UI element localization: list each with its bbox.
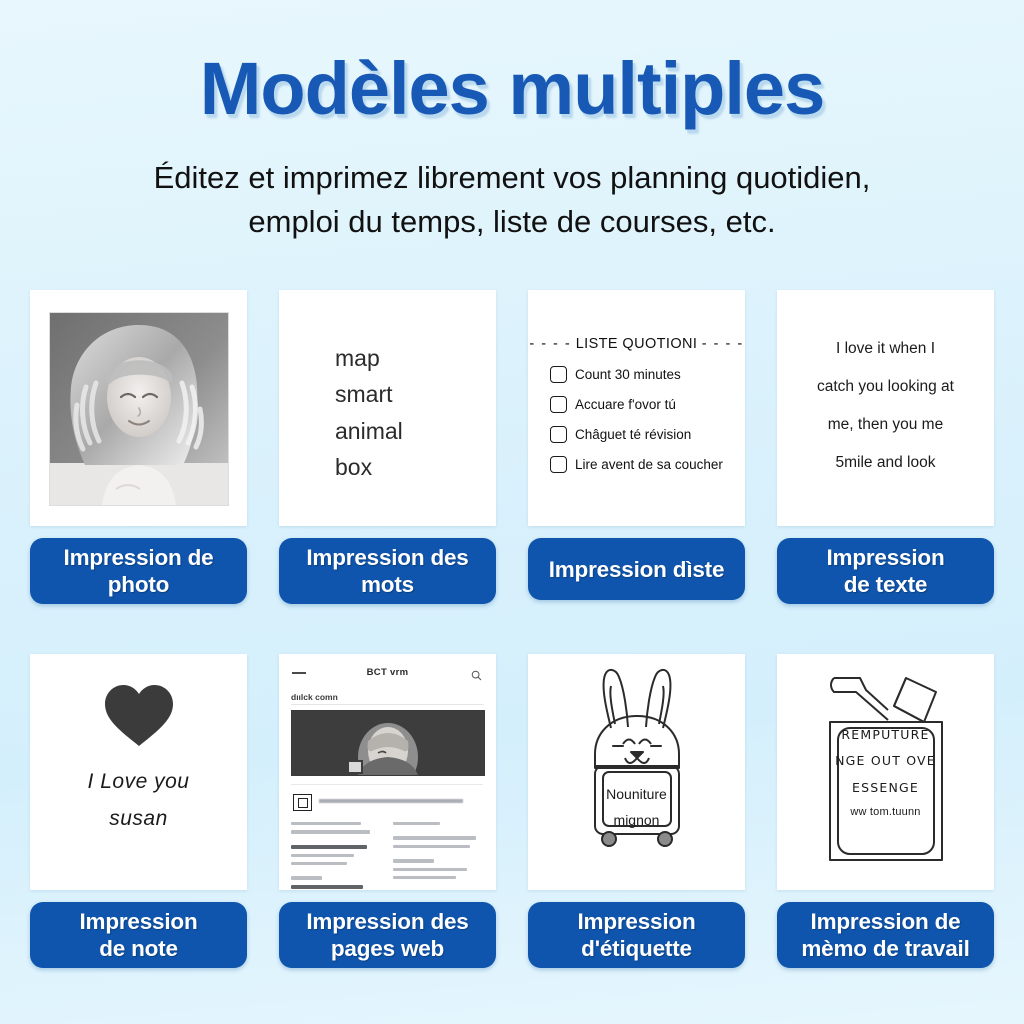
word-item: map — [335, 342, 403, 375]
quote-text: I love it when I catch you looking at me… — [787, 330, 984, 482]
checklist-item[interactable]: Accuare f'ovor tú — [550, 396, 736, 413]
heart-shape — [102, 682, 176, 748]
label-line-2: photo — [64, 571, 214, 598]
checklist: Count 30 minutes Accuare f'ovor tú Châgu… — [550, 366, 736, 486]
label-line-1: Impression de — [64, 544, 214, 571]
checkbox-icon[interactable] — [550, 366, 567, 383]
note-text: I Love you susan — [30, 764, 247, 838]
memo-text: REMPUTURE NGE OUT OVE ESSENGE ww tom.tuu… — [777, 722, 994, 824]
label-line-2: d'étiquette — [577, 935, 695, 962]
webpage-column-right — [393, 822, 483, 890]
checklist-item[interactable]: Lire avent de sa coucher — [550, 456, 736, 473]
word-item: animal — [335, 415, 403, 448]
template-cell-webpage[interactable]: BCT vrm dıılck comn — [279, 654, 496, 968]
bunny-shape — [573, 662, 701, 880]
webpage-title: BCT vrm — [279, 667, 496, 678]
checklist-item-label: Count 30 minutes — [575, 367, 681, 382]
page-subtitle-line-2: emploi du temps, liste de courses, etc. — [42, 200, 982, 244]
divider — [291, 784, 483, 785]
checklist-item-label: Lire avent de sa coucher — [575, 457, 723, 472]
checklist-item[interactable]: Count 30 minutes — [550, 366, 736, 383]
preview-card-note[interactable]: I Love you susan — [30, 654, 247, 890]
template-cell-memo[interactable]: REMPUTURE NGE OUT OVE ESSENGE ww tom.tuu… — [777, 654, 994, 968]
etiquette-line-1: Nouniture — [528, 782, 745, 808]
etiquette-text: Nouniture mignon — [528, 782, 745, 834]
note-line-1: I Love you — [30, 764, 247, 801]
preview-card-checklist[interactable]: - - - - LISTE QUOTIONI - - - - Count 30 … — [528, 290, 745, 526]
promo-page: Modèles multiples Éditez et imprimez lib… — [0, 0, 1024, 1024]
bunny-luggage-icon — [573, 662, 701, 885]
label-line-1: Impression des — [306, 908, 468, 935]
preview-card-words[interactable]: map smart animal box — [279, 290, 496, 526]
webpage-subtitle: dıılck comn — [291, 692, 338, 702]
quote-line: I love it when I — [787, 330, 984, 368]
label-line-1: Impression — [79, 908, 197, 935]
preview-card-memo[interactable]: REMPUTURE NGE OUT OVE ESSENGE ww tom.tuu… — [777, 654, 994, 890]
template-row-1: Impression de photo map smart animal box — [30, 290, 996, 604]
label-impression-de-texte[interactable]: Impression de texte — [777, 538, 994, 604]
webpage-hero-image — [291, 710, 485, 776]
preview-card-photo[interactable] — [30, 290, 247, 526]
word-item: smart — [335, 378, 403, 411]
word-item: box — [335, 451, 403, 484]
memo-line-1: REMPUTURE — [777, 722, 994, 748]
label-impression-des-pages-web[interactable]: Impression des pages web — [279, 902, 496, 968]
divider — [291, 704, 484, 705]
template-cell-etiquette[interactable]: Nouniture mignon Impression d'étiquette — [528, 654, 745, 968]
checklist-title-row: - - - - LISTE QUOTIONI - - - - — [528, 336, 745, 352]
webpage-screenshot: BCT vrm dıılck comn — [279, 654, 496, 890]
memo-line-3: ESSENGE — [777, 775, 994, 801]
label-impression-de-photo[interactable]: Impression de photo — [30, 538, 247, 604]
label-line-1: Impression dìste — [549, 556, 725, 583]
label-impression-de-note[interactable]: Impression de note — [30, 902, 247, 968]
label-line-2: de note — [79, 935, 197, 962]
preview-card-webpage[interactable]: BCT vrm dıılck comn — [279, 654, 496, 890]
media-icon — [293, 794, 312, 811]
label-line-1: Impression des — [306, 544, 468, 571]
preview-card-etiquette[interactable]: Nouniture mignon — [528, 654, 745, 890]
heart-icon — [102, 682, 176, 753]
label-impression-de-memo-de-travail[interactable]: Impression de mèmo de travail — [777, 902, 994, 968]
template-cell-note[interactable]: I Love you susan Impression de note — [30, 654, 247, 968]
checklist-item-label: Châguet té révision — [575, 427, 691, 442]
label-impression-detiquette[interactable]: Impression d'étiquette — [528, 902, 745, 968]
checklist-title: LISTE QUOTIONI — [576, 336, 698, 352]
label-line-2: mèmo de travail — [801, 935, 969, 962]
label-line-1: Impression — [577, 908, 695, 935]
label-line-2: de texte — [826, 571, 944, 598]
etiquette-line-2: mignon — [528, 808, 745, 834]
template-cell-text[interactable]: I love it when I catch you looking at me… — [777, 290, 994, 604]
label-line-2: pages web — [306, 935, 468, 962]
quote-line: catch you looking at — [787, 368, 984, 406]
label-impression-des-mots[interactable]: Impression des mots — [279, 538, 496, 604]
quote-line: 5mile and look — [787, 444, 984, 482]
page-subtitle-line-1: Éditez et imprimez librement vos plannin… — [42, 156, 982, 200]
checkbox-icon[interactable] — [550, 456, 567, 473]
quote-line: me, then you me — [787, 406, 984, 444]
webpage-column-left — [291, 822, 381, 890]
template-cell-photo[interactable]: Impression de photo — [30, 290, 247, 604]
checkbox-icon[interactable] — [550, 426, 567, 443]
template-row-2: I Love you susan Impression de note — [30, 654, 996, 968]
page-title: Modèles multiples — [0, 46, 1024, 131]
dash-left: - - - - — [529, 336, 571, 352]
portrait-illustration — [50, 313, 228, 505]
search-glyph — [471, 670, 482, 681]
label-line-2: mots — [306, 571, 468, 598]
word-list: map smart animal box — [335, 342, 403, 487]
template-cell-checklist[interactable]: - - - - LISTE QUOTIONI - - - - Count 30 … — [528, 290, 745, 604]
hero-illustration — [292, 711, 484, 775]
note-line-2: susan — [30, 801, 247, 838]
label-line-1: Impression de — [801, 908, 969, 935]
webpage-header: BCT vrm — [279, 664, 496, 690]
label-line-1: Impression — [826, 544, 944, 571]
preview-card-text[interactable]: I love it when I catch you looking at me… — [777, 290, 994, 526]
webpage-caption-placeholder — [319, 799, 469, 803]
webpage-body-columns — [291, 822, 484, 890]
checklist-item-label: Accuare f'ovor tú — [575, 397, 676, 412]
memo-url: ww tom.tuunn — [777, 801, 994, 824]
checkbox-icon[interactable] — [550, 396, 567, 413]
label-impression-diste[interactable]: Impression dìste — [528, 538, 745, 600]
template-cell-words[interactable]: map smart animal box Impression des mots — [279, 290, 496, 604]
photo-thumbnail — [49, 312, 229, 506]
memo-line-2: NGE OUT OVE — [777, 748, 994, 774]
page-subtitle: Éditez et imprimez librement vos plannin… — [42, 156, 982, 244]
template-grid: Impression de photo map smart animal box — [30, 290, 996, 968]
search-icon[interactable] — [471, 668, 482, 686]
dash-right: - - - - — [702, 336, 744, 352]
checklist-item[interactable]: Châguet té révision — [550, 426, 736, 443]
